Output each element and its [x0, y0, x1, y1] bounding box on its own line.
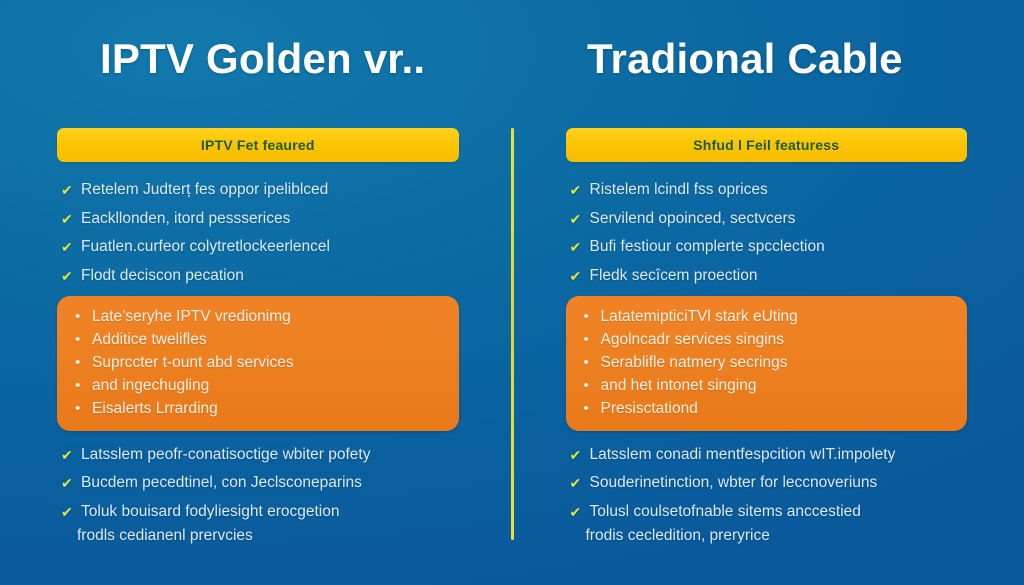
list-item: • LatatemipticiTVl stark eUting: [584, 307, 954, 327]
dot-list-left: • Late’seryhe IPTV vredionimg • Additice…: [75, 307, 445, 418]
list-item: • and ingechugling: [75, 376, 445, 396]
check-icon: ✔: [61, 473, 81, 493]
list-item: ✔ Flodt deciscon pecation: [61, 266, 459, 287]
list-item-label: Eackllonden, itord pessserices: [81, 209, 459, 230]
bullet-icon: •: [75, 376, 92, 395]
list-item-label: Late’seryhe IPTV vredionimg: [92, 307, 445, 327]
check-icon: ✔: [570, 237, 590, 257]
check-icon: ✔: [61, 180, 81, 200]
bullet-icon: •: [584, 307, 601, 326]
list-item-label: LatatemipticiTVl stark eUting: [601, 307, 954, 327]
section-header-right: Shfud l Feil featuress: [566, 128, 968, 162]
list-item: ✔ Tolusl coulsetofnable sitems anccestie…: [570, 502, 968, 523]
list-item: • Late’seryhe IPTV vredionimg: [75, 307, 445, 327]
list-item-label: and het intonet singing: [601, 376, 954, 396]
list-item-label: Eisalerts Lrrarding: [92, 399, 445, 419]
page-title-right: Tradional Cable: [587, 37, 903, 81]
list-item: • Suprccter t-ount abd services: [75, 353, 445, 373]
list-item-label: Souderinetinction, wbter for leccnoveriu…: [590, 473, 968, 494]
list-item: ✔ Servilend opoinced, sectvcers: [570, 209, 968, 230]
list-item-label: Toluk bouisard fodyliesight erocgetion: [81, 502, 459, 523]
list-item: ✔ Souderinetinction, wbter for leccnover…: [570, 473, 968, 494]
bullet-icon: •: [75, 399, 92, 418]
check-icon: ✔: [61, 502, 81, 522]
list-item: • Additice twelifles: [75, 330, 445, 350]
list-item-label: Retelem Judterț fes oppor ipeliblced: [81, 180, 459, 201]
bullet-icon: •: [584, 376, 601, 395]
check-icon: ✔: [570, 209, 590, 229]
list-item-label: Additice twelifles: [92, 330, 445, 350]
highlight-panel-left: • Late’seryhe IPTV vredionimg • Additice…: [57, 296, 459, 430]
section-header-left-label: IPTV Fet feaured: [201, 137, 315, 153]
section-header-right-label: Shfud l Feil featuress: [693, 137, 839, 153]
comparison-poster: IPTV Golden vr.. Tradional Cable IPTV Fe…: [0, 0, 1024, 585]
list-item-label: Latsslem conadi mentfespcition wIT.impol…: [590, 445, 968, 466]
check-icon: ✔: [61, 237, 81, 257]
titles-row: IPTV Golden vr.. Tradional Cable: [0, 0, 1024, 118]
page-title-left: IPTV Golden vr..: [100, 37, 425, 81]
list-item: • and het intonet singing: [584, 376, 954, 396]
list-item-label: Suprccter t-ount abd services: [92, 353, 445, 373]
section-header-left: IPTV Fet feaured: [57, 128, 459, 162]
check-list-right-bottom: ✔ Latsslem conadi mentfespcition wIT.imp…: [566, 431, 968, 523]
check-list-right-top: ✔ Ristelem lcindl fss oprices ✔ Servilen…: [566, 162, 968, 286]
check-icon: ✔: [570, 445, 590, 465]
highlight-panel-right: • LatatemipticiTVl stark eUting • Agolnc…: [566, 296, 968, 430]
check-icon: ✔: [61, 266, 81, 286]
column-iptv-golden: IPTV Fet feaured ✔ Retelem Judterț fes o…: [0, 128, 508, 585]
list-item: ✔ Latsslem peofr-conatisoctige wbiter po…: [61, 445, 459, 466]
list-item-label: Serablifle natmery secrings: [601, 353, 954, 373]
check-icon: ✔: [570, 502, 590, 522]
check-icon: ✔: [61, 445, 81, 465]
column-tradional-cable: Shfud l Feil featuress ✔ Ristelem lcindl…: [508, 128, 1024, 585]
list-item-label: Ristelem lcindl fss oprices: [590, 180, 968, 201]
list-item-label: Flodt deciscon pecation: [81, 266, 459, 287]
bullet-icon: •: [75, 307, 92, 326]
list-item-label: Bufi festiour complerte spcclection: [590, 237, 968, 258]
bullet-icon: •: [584, 330, 601, 349]
title-cell-left: IPTV Golden vr..: [0, 0, 537, 118]
check-icon: ✔: [570, 180, 590, 200]
list-item-label: and ingechugling: [92, 376, 445, 396]
list-item-label: Servilend opoinced, sectvcers: [590, 209, 968, 230]
check-icon: ✔: [570, 473, 590, 493]
list-item: • Serablifle natmery secrings: [584, 353, 954, 373]
bullet-icon: •: [584, 353, 601, 372]
check-icon: ✔: [570, 266, 590, 286]
check-list-left-top: ✔ Retelem Judterț fes oppor ipeliblced ✔…: [57, 162, 459, 286]
columns-container: IPTV Fet feaured ✔ Retelem Judterț fes o…: [0, 128, 1024, 585]
list-item-continuation-right: frodis cecledition, preryrice: [566, 526, 968, 547]
bullet-icon: •: [75, 330, 92, 349]
list-item: ✔ Bufi festiour complerte spcclection: [570, 237, 968, 258]
list-item-label: Fledk secîcem proection: [590, 266, 968, 287]
check-list-left-bottom: ✔ Latsslem peofr-conatisoctige wbiter po…: [57, 431, 459, 523]
list-item: ✔ Ristelem lcindl fss oprices: [570, 180, 968, 201]
bullet-icon: •: [75, 353, 92, 372]
title-cell-right: Tradional Cable: [537, 0, 1024, 118]
list-item: • Agolncadr services singins: [584, 330, 954, 350]
list-item: ✔ Eackllonden, itord pessserices: [61, 209, 459, 230]
list-item: • Eisalerts Lrrarding: [75, 399, 445, 419]
list-item: • Presisctationd: [584, 399, 954, 419]
list-item-label: Latsslem peofr-conatisoctige wbiter pofe…: [81, 445, 459, 466]
check-icon: ✔: [61, 209, 81, 229]
list-item-label: Fuatlen.curfeor colytretlockeerlencel: [81, 237, 459, 258]
list-item: ✔ Fuatlen.curfeor colytretlockeerlencel: [61, 237, 459, 258]
list-item: ✔ Fledk secîcem proection: [570, 266, 968, 287]
dot-list-right: • LatatemipticiTVl stark eUting • Agolnc…: [584, 307, 954, 418]
list-item: ✔ Latsslem conadi mentfespcition wIT.imp…: [570, 445, 968, 466]
list-item-label: Bucdem pecedtinel, con Jeclsconeparins: [81, 473, 459, 494]
list-item-label: Tolusl coulsetofnable sitems anccestied: [590, 502, 968, 523]
list-item-continuation-left: frodls cedianenl prervcies: [57, 526, 459, 547]
list-item-label: Agolncadr services singins: [601, 330, 954, 350]
list-item: ✔ Retelem Judterț fes oppor ipeliblced: [61, 180, 459, 201]
bullet-icon: •: [584, 399, 601, 418]
list-item: ✔ Bucdem pecedtinel, con Jeclsconeparins: [61, 473, 459, 494]
list-item: ✔ Toluk bouisard fodyliesight erocgetion: [61, 502, 459, 523]
list-item-label: Presisctationd: [601, 399, 954, 419]
